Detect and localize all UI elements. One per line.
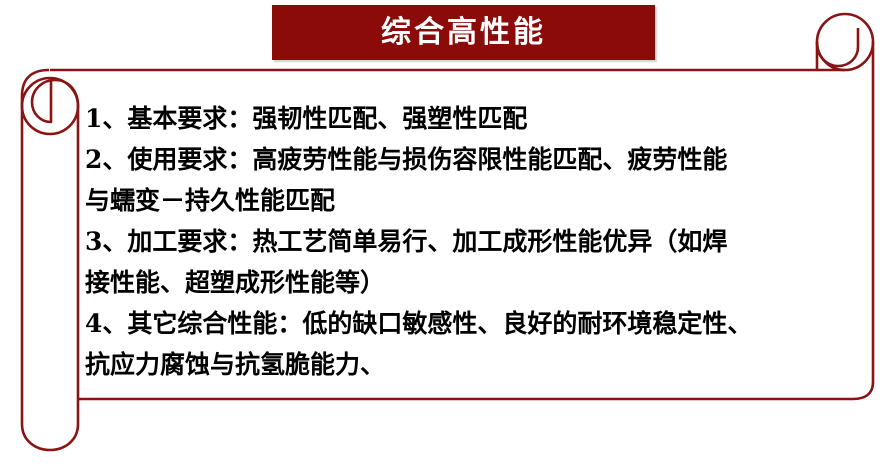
scroll-curl-right-inner (817, 28, 858, 66)
scroll-curl-right-outer-circle (817, 14, 873, 70)
scroll-curl-left-outer-circle (22, 78, 78, 134)
text-line-item-4-cont: 抗应力腐蚀与抗氢脆能力、 (85, 344, 875, 385)
text-line-item-2-cont: 与蠕变－持久性能匹配 (85, 180, 875, 221)
text-line-item-3-cont: 接性能、超塑成形性能等） (85, 262, 875, 303)
text-line-item-4: 4、其它综合性能：低的缺口敏感性、良好的耐环境稳定性、 (85, 303, 875, 344)
scroll-curl-left-inner (32, 80, 78, 122)
scroll-curl-left-rod (22, 70, 78, 450)
text-line-item-3: 3、加工要求：热工艺简单易行、加工成形性能优异（如焊 (85, 221, 875, 262)
page-title: 综合高性能 (381, 18, 546, 48)
text-line-item-2: 2、使用要求：高疲劳性能与损伤容限性能匹配、疲劳性能 (85, 139, 875, 180)
body-text-block: 1、基本要求：强韧性匹配、强塑性匹配 2、使用要求：高疲劳性能与损伤容限性能匹配… (85, 98, 875, 385)
slide-canvas: 综合高性能 1、基本要求：强韧性匹配、强塑性匹配 2、使用要求：高疲劳性能与损伤… (0, 0, 893, 468)
title-banner: 综合高性能 (272, 5, 655, 60)
text-line-item-1: 1、基本要求：强韧性匹配、强塑性匹配 (85, 98, 875, 139)
